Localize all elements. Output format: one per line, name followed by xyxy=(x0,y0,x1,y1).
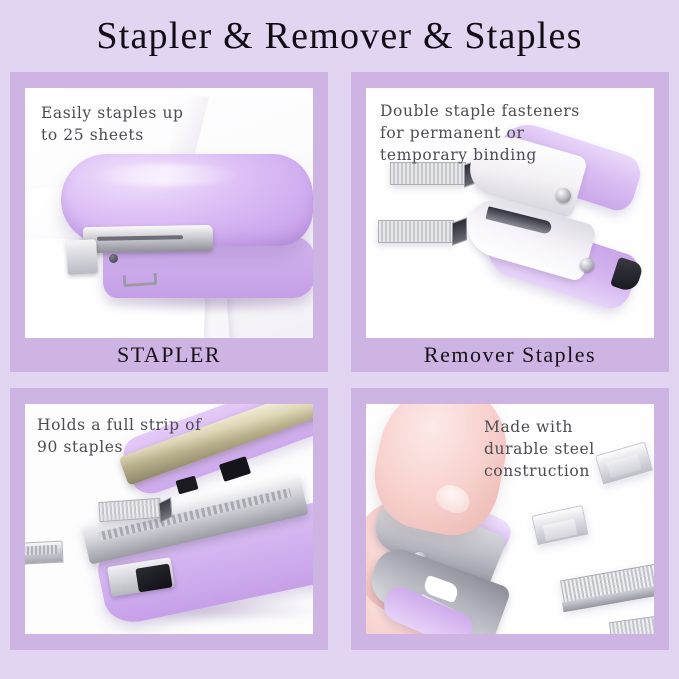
highlight-gloss xyxy=(91,164,241,186)
staple-icon xyxy=(123,273,158,287)
photo-remover-with-staples: Double staple fasteners for permanent or… xyxy=(366,88,654,356)
caption-band-stapler: STAPLER xyxy=(10,338,328,372)
caption-label-stapler: STAPLER xyxy=(117,343,221,367)
caption-label-remover-staples: Remover Staples xyxy=(424,343,596,367)
callout-text-top-left: Easily staples up to 25 sheets xyxy=(41,102,184,146)
panel-remover-hand-bottom-right[interactable]: Made with durable steel construction xyxy=(351,388,669,650)
panel-stapler-top-left[interactable]: Easily staples up to 25 sheets xyxy=(10,72,328,372)
panel-stapler-loading-bottom-left[interactable]: Holds a full strip of 90 staples xyxy=(10,388,328,650)
photo-stapler-on-paper: Easily staples up to 25 sheets xyxy=(25,88,313,356)
feature-grid: Easily staples up to 25 sheets Double st… xyxy=(0,72,679,679)
caption-band-remover-staples: Remover Staples xyxy=(351,338,669,372)
callout-text-bottom-right: Made with durable steel construction xyxy=(484,416,595,482)
remover-lower-rivet xyxy=(580,258,594,272)
staple-block-icon xyxy=(378,220,454,243)
callout-text-bottom-left: Holds a full strip of 90 staples xyxy=(37,414,201,458)
page-title: Stapler & Remover & Staples xyxy=(0,14,679,58)
remover-upper-rivet xyxy=(556,188,571,203)
header: Stapler & Remover & Staples xyxy=(0,0,679,72)
callout-text-top-right: Double staple fasteners for permanent or… xyxy=(380,100,580,166)
panel-remover-top-right[interactable]: Double staple fasteners for permanent or… xyxy=(351,72,669,372)
stapler-nose-icon xyxy=(66,239,98,275)
photo-stapler-loading: Holds a full strip of 90 staples xyxy=(25,404,313,634)
stapler-pin-icon xyxy=(109,254,118,263)
photo-hand-using-remover: Made with durable steel construction xyxy=(366,404,654,634)
